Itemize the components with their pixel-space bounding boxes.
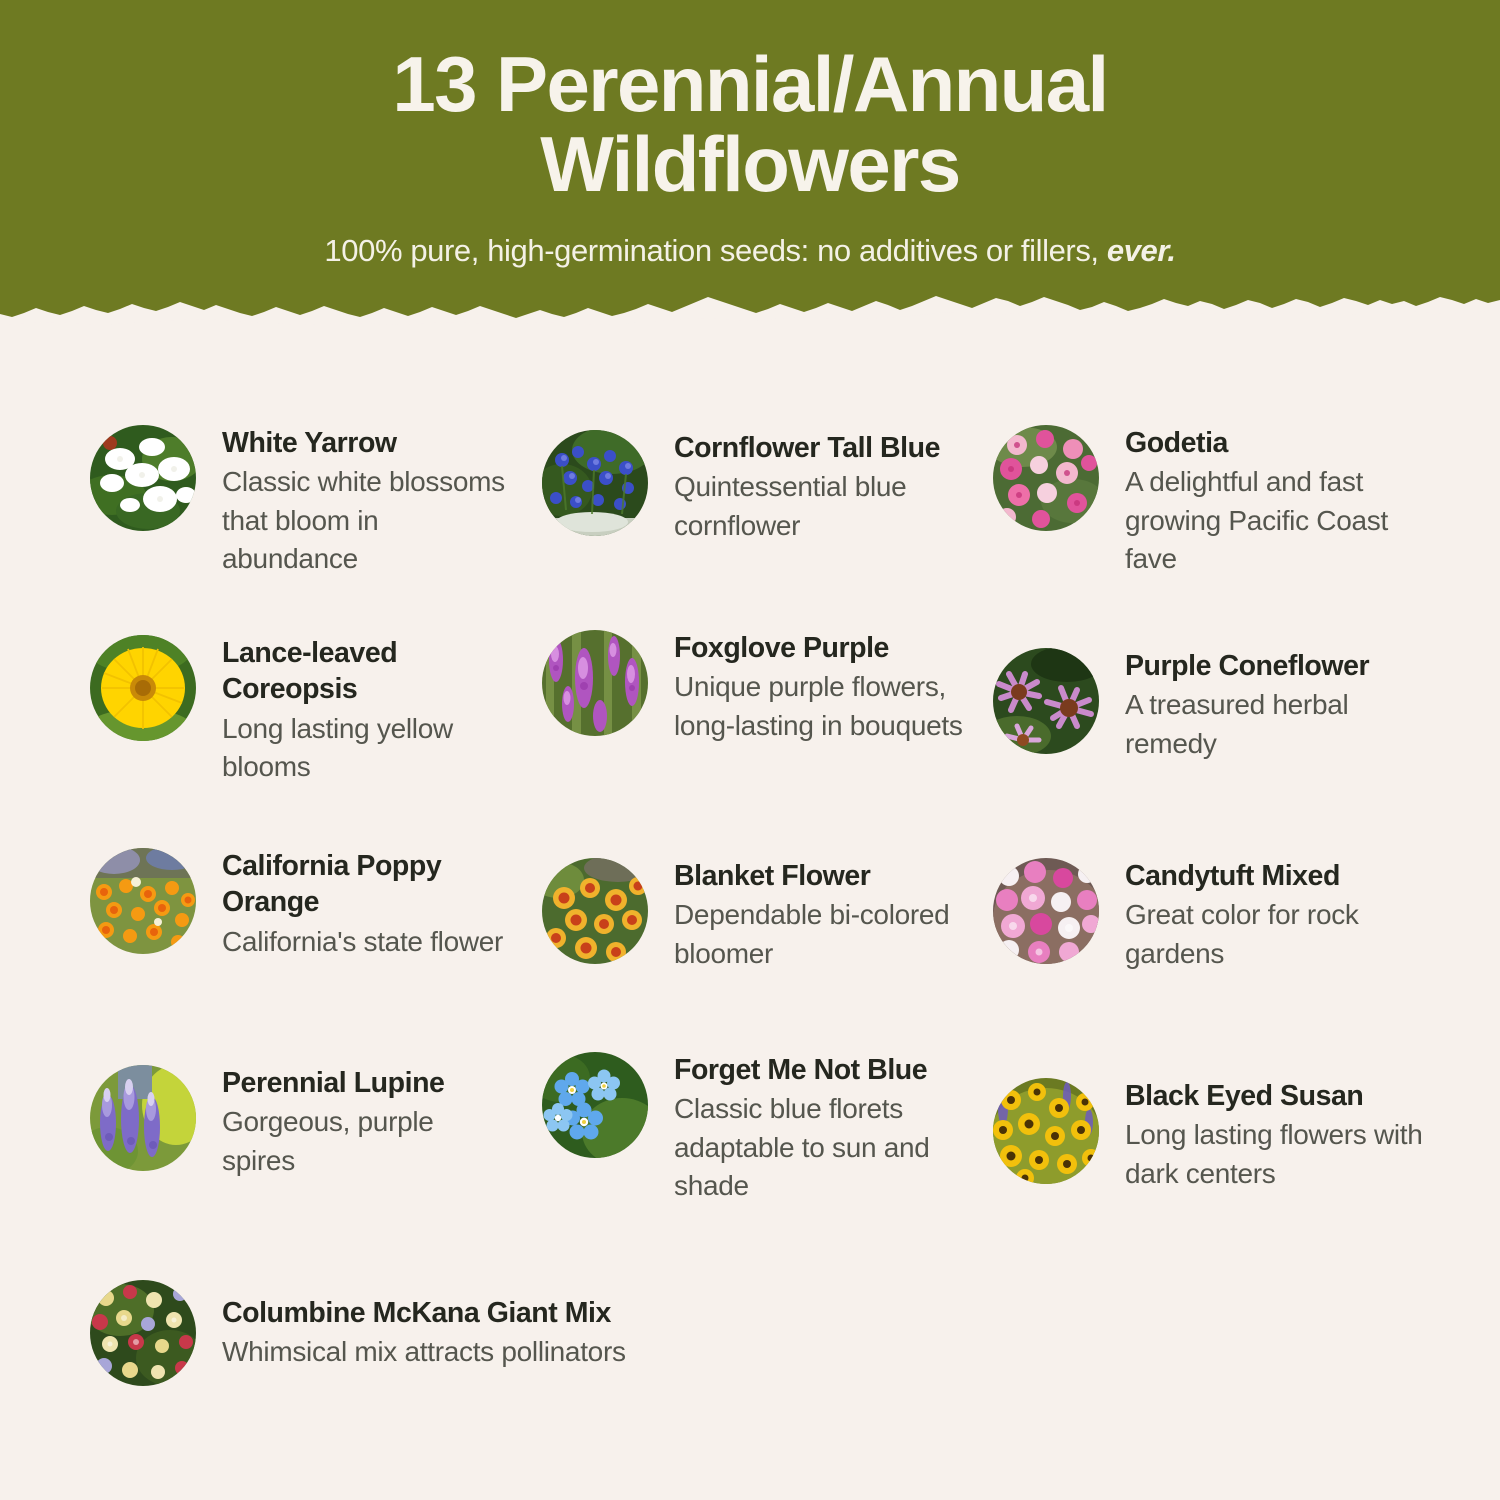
page-title-line-2: Wildflowers — [540, 120, 959, 208]
flower-item[interactable]: Candytuft Mixed Great color for rock gar… — [993, 858, 1423, 973]
flower-item[interactable]: Purple Coneflower A treasured herbal rem… — [993, 648, 1423, 763]
flower-item[interactable]: California Poppy Orange California's sta… — [90, 848, 510, 961]
header-banner: 13 Perennial/Annual Wildflowers 100% pur… — [0, 0, 1500, 330]
flower-text: Black Eyed Susan Long lasting flowers wi… — [1125, 1078, 1423, 1193]
wildflower-seed-infographic: 13 Perennial/Annual Wildflowers 100% pur… — [0, 0, 1500, 1500]
flower-item[interactable]: Blanket Flower Dependable bi-colored blo… — [542, 858, 972, 973]
flower-text: Perennial Lupine Gorgeous, purple spires — [222, 1065, 510, 1180]
flower-text: Blanket Flower Dependable bi-colored blo… — [674, 858, 972, 973]
flower-name: White Yarrow — [222, 425, 510, 461]
flower-description: A treasured herbal remedy — [1125, 686, 1423, 763]
flower-item[interactable]: Godetia A delightful and fast growing Pa… — [993, 425, 1423, 579]
flower-text: Candytuft Mixed Great color for rock gar… — [1125, 858, 1423, 973]
flower-item[interactable]: Perennial Lupine Gorgeous, purple spires — [90, 1065, 510, 1180]
white-yarrow-photo — [90, 425, 196, 531]
flower-text: Purple Coneflower A treasured herbal rem… — [1125, 648, 1423, 763]
flower-name: Candytuft Mixed — [1125, 858, 1423, 894]
flower-item[interactable]: Forget Me Not Blue Classic blue florets … — [542, 1052, 972, 1206]
flower-description: Great color for rock gardens — [1125, 896, 1423, 973]
page-subtitle-emphasis: ever. — [1107, 233, 1176, 268]
flower-name: Black Eyed Susan — [1125, 1078, 1423, 1114]
flower-item[interactable]: Lance-leaved Coreopsis Long lasting yell… — [90, 635, 510, 787]
flower-item[interactable]: Cornflower Tall Blue Quintessential blue… — [542, 430, 972, 545]
flower-name: Godetia — [1125, 425, 1423, 461]
flower-name: California Poppy Orange — [222, 848, 510, 921]
candytuft-mixed-photo — [993, 858, 1099, 964]
flower-description: Long lasting flowers with dark centers — [1125, 1116, 1423, 1193]
flower-description: Classic white blossoms that bloom in abu… — [222, 463, 510, 578]
flower-name: Blanket Flower — [674, 858, 972, 894]
flower-description: Unique purple flowers, long-lasting in b… — [674, 668, 972, 745]
lance-leaved-coreopsis-photo — [90, 635, 196, 741]
flower-text: Lance-leaved Coreopsis Long lasting yell… — [222, 635, 510, 787]
flower-grid: White Yarrow Classic white blossoms that… — [0, 330, 1500, 1500]
flower-description: Long lasting yellow blooms — [222, 710, 510, 787]
godetia-photo — [993, 425, 1099, 531]
flower-name: Lance-leaved Coreopsis — [222, 635, 510, 708]
flower-item[interactable]: Black Eyed Susan Long lasting flowers wi… — [993, 1078, 1423, 1193]
page-subtitle: 100% pure, high-germination seeds: no ad… — [324, 233, 1175, 269]
flower-item[interactable]: Foxglove Purple Unique purple flowers, l… — [542, 630, 972, 745]
flower-text: Forget Me Not Blue Classic blue florets … — [674, 1052, 972, 1206]
california-poppy-orange-photo — [90, 848, 196, 954]
flower-text: Cornflower Tall Blue Quintessential blue… — [674, 430, 972, 545]
flower-description: A delightful and fast growing Pacific Co… — [1125, 463, 1423, 578]
flower-description: Dependable bi-colored bloomer — [674, 896, 972, 973]
flower-text: California Poppy Orange California's sta… — [222, 848, 510, 961]
flower-description: California's state flower — [222, 923, 510, 961]
flower-name: Forget Me Not Blue — [674, 1052, 972, 1088]
flower-description: Gorgeous, purple spires — [222, 1103, 510, 1180]
flower-description: Classic blue florets adaptable to sun an… — [674, 1090, 972, 1205]
purple-coneflower-photo — [993, 648, 1099, 754]
page-subtitle-main: 100% pure, high-germination seeds: no ad… — [324, 233, 1098, 268]
flower-name: Foxglove Purple — [674, 630, 972, 666]
flower-text: Godetia A delightful and fast growing Pa… — [1125, 425, 1423, 579]
cornflower-tall-blue-photo — [542, 430, 648, 536]
flower-text: White Yarrow Classic white blossoms that… — [222, 425, 510, 579]
flower-name: Columbine McKana Giant Mix — [222, 1295, 626, 1331]
columbine-mckana-giant-mix-photo — [90, 1280, 196, 1386]
flower-item[interactable]: White Yarrow Classic white blossoms that… — [90, 425, 510, 579]
torn-paper-edge — [0, 270, 1500, 330]
page-title-line-1: 13 Perennial/Annual — [392, 40, 1107, 128]
header-content: 13 Perennial/Annual Wildflowers 100% pur… — [0, 0, 1500, 310]
forget-me-not-blue-photo — [542, 1052, 648, 1158]
flower-text: Foxglove Purple Unique purple flowers, l… — [674, 630, 972, 745]
flower-item[interactable]: Columbine McKana Giant Mix Whimsical mix… — [90, 1280, 790, 1386]
flower-description: Whimsical mix attracts pollinators — [222, 1333, 626, 1371]
flower-name: Perennial Lupine — [222, 1065, 510, 1101]
page-title: 13 Perennial/Annual Wildflowers — [392, 44, 1107, 205]
foxglove-purple-photo — [542, 630, 648, 736]
flower-text: Columbine McKana Giant Mix Whimsical mix… — [222, 1295, 626, 1372]
flower-name: Purple Coneflower — [1125, 648, 1423, 684]
blanket-flower-photo — [542, 858, 648, 964]
perennial-lupine-photo — [90, 1065, 196, 1171]
flower-description: Quintessential blue cornflower — [674, 468, 972, 545]
flower-name: Cornflower Tall Blue — [674, 430, 972, 466]
black-eyed-susan-photo — [993, 1078, 1099, 1184]
